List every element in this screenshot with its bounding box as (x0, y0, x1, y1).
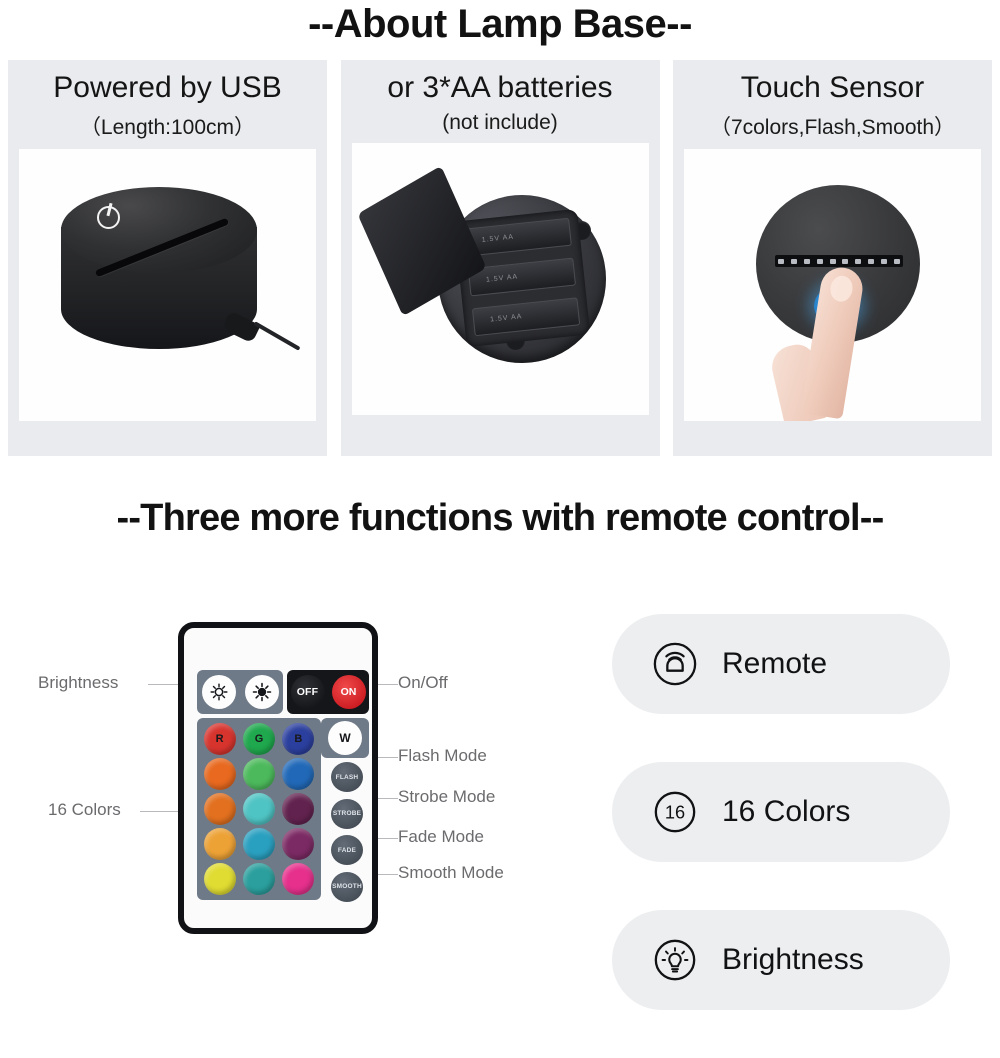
battery-bay: 1.5V AA 1.5V AA 1.5V AA (453, 209, 589, 347)
color-swatch-grid: R G B (197, 718, 321, 900)
color-button[interactable] (282, 758, 314, 790)
led-dot (817, 259, 823, 264)
fingernail (829, 274, 855, 303)
card-title: or 3*AA batteries (387, 70, 612, 105)
remote-signal-icon (652, 641, 698, 687)
brightness-bulb-icon (652, 937, 698, 983)
color-button[interactable] (204, 863, 236, 895)
touch-sensor-photo (684, 149, 981, 421)
card-touch-sensor: Touch Sensor （7colors,Flash,Smooth） (673, 60, 992, 456)
color-button-blue[interactable]: B (282, 723, 314, 755)
card-powered-by-usb: Powered by USB （Length:100cm） (8, 60, 327, 456)
led-strip (775, 255, 903, 267)
brightness-down-button[interactable] (202, 675, 236, 709)
lamp-base-cards: Powered by USB （Length:100cm） or 3*AA ba… (8, 60, 992, 456)
battery-slot-label: 1.5V AA (485, 274, 518, 284)
color-button-green[interactable]: G (243, 723, 275, 755)
callout-strobe-mode: Strobe Mode (398, 787, 495, 807)
section-title-remote: --Three more functions with remote contr… (0, 497, 1000, 540)
callout-fade-mode: Fade Mode (398, 827, 484, 847)
base-cylinder-top (61, 187, 257, 273)
led-dot (855, 259, 861, 264)
callout-flash-mode: Flash Mode (398, 746, 487, 766)
feature-pill-16-colors[interactable]: 16 16 Colors (612, 762, 950, 862)
color-button[interactable] (204, 828, 236, 860)
white-button-panel: W (321, 718, 369, 758)
card-subtitle: (not include) (442, 111, 558, 135)
feature-label: 16 Colors (722, 795, 850, 829)
led-dot (791, 259, 797, 264)
card-title: Powered by USB (53, 70, 281, 105)
remote-control-body: OFF ON W R G B FLASH (178, 622, 378, 934)
color-button[interactable] (204, 758, 236, 790)
remote-top-row: OFF ON (197, 670, 369, 714)
color-button[interactable] (204, 793, 236, 825)
feature-pill-list: Remote 16 16 Colors Brightness (612, 614, 952, 1058)
battery-slot-label: 1.5V AA (481, 234, 514, 244)
battery-compartment-photo: 1.5V AA 1.5V AA 1.5V AA (352, 143, 649, 415)
color-button[interactable] (282, 863, 314, 895)
callout-brightness: Brightness (38, 673, 118, 693)
led-dot (842, 259, 848, 264)
led-dot (778, 259, 784, 264)
color-button[interactable] (243, 793, 275, 825)
brightness-up-button[interactable] (245, 675, 279, 709)
card-title: Touch Sensor (741, 70, 924, 105)
led-dot (868, 259, 874, 264)
feature-label: Remote (722, 647, 827, 681)
page-title: --About Lamp Base-- (0, 2, 1000, 47)
swatch-label: B (294, 733, 302, 745)
battery-slot-label: 1.5V AA (489, 314, 522, 324)
battery-slot: 1.5V AA (471, 298, 579, 337)
mode-button-column: FLASH STROBE FADE SMOOTH (325, 762, 369, 902)
smooth-mode-button[interactable]: SMOOTH (331, 872, 363, 902)
callout-16-colors: 16 Colors (48, 800, 121, 820)
brightness-panel (197, 670, 283, 714)
brightness-down-icon (209, 682, 229, 702)
brightness-up-icon (252, 682, 272, 702)
white-color-button[interactable]: W (328, 721, 362, 755)
fade-mode-button[interactable]: FADE (331, 835, 363, 865)
lamp-base-illustration (19, 149, 316, 421)
power-panel: OFF ON (287, 670, 369, 714)
usb-lamp-base-photo (19, 149, 316, 421)
card-subtitle: （7colors,Flash,Smooth） (710, 111, 955, 141)
sixteen-circle-icon: 16 (652, 789, 698, 835)
remote-control-diagram: Brightness 16 Colors On/Off Flash Mode S… (0, 600, 610, 970)
card-aa-batteries: or 3*AA batteries (not include) 1.5V AA … (341, 60, 660, 456)
callout-on-off: On/Off (398, 673, 448, 693)
callout-smooth-mode: Smooth Mode (398, 863, 504, 883)
svg-text:16: 16 (665, 803, 685, 823)
color-button[interactable] (243, 863, 275, 895)
led-dot (881, 259, 887, 264)
led-dot (804, 259, 810, 264)
led-dot (894, 259, 900, 264)
usb-cable (253, 322, 300, 351)
off-button[interactable]: OFF (291, 675, 325, 709)
swatch-label: G (255, 733, 264, 745)
card-subtitle: （Length:100cm） (80, 111, 255, 141)
color-button-red[interactable]: R (204, 723, 236, 755)
feature-pill-remote[interactable]: Remote (612, 614, 950, 714)
feature-pill-brightness[interactable]: Brightness (612, 910, 950, 1010)
swatch-label: R (216, 733, 224, 745)
color-button[interactable] (282, 793, 314, 825)
feature-label: Brightness (722, 943, 864, 977)
on-button[interactable]: ON (332, 675, 366, 709)
led-dot (830, 259, 836, 264)
color-button[interactable] (243, 758, 275, 790)
strobe-mode-button[interactable]: STROBE (331, 799, 363, 829)
flash-mode-button[interactable]: FLASH (331, 762, 363, 792)
color-button[interactable] (243, 828, 275, 860)
color-button[interactable] (282, 828, 314, 860)
